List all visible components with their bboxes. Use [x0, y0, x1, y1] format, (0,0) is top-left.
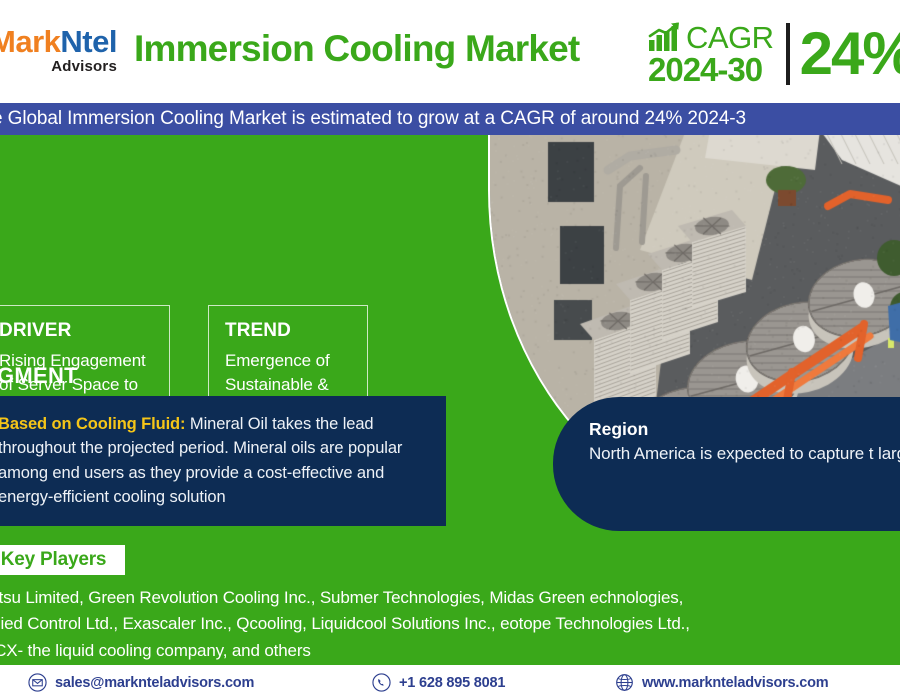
segment-card-label: Based on Cooling Fluid:	[0, 415, 185, 433]
driver-card-title: DRIVER	[0, 320, 153, 342]
cagr-label: CAGR	[686, 23, 774, 52]
logo-text-ntel: Ntel	[60, 24, 117, 59]
footer-website-text: www.marknteladvisors.com	[642, 675, 828, 691]
body-panel: DRIVER Rising Engagement of Server Space…	[0, 135, 900, 665]
company-logo[interactable]: MarkNtel Advisors	[0, 26, 121, 74]
globe-icon	[615, 673, 634, 692]
segment-card-text: Based on Cooling Fluid: Mineral Oil take…	[0, 412, 432, 510]
logo-text-mark: Mark	[0, 24, 60, 59]
cagr-top-row: CAGR	[648, 22, 774, 52]
logo-wordmark: MarkNtel	[0, 26, 121, 57]
header-bar: MarkNtel Advisors Immersion Cooling Mark…	[0, 0, 900, 105]
headline-banner-text: e Global Immersion Cooling Market is est…	[0, 108, 746, 130]
cagr-value: 24%	[800, 24, 900, 84]
headline-banner: e Global Immersion Cooling Market is est…	[0, 103, 900, 135]
footer-email-text: sales@marknteladvisors.com	[55, 675, 254, 691]
region-card: Region North America is expected to capt…	[553, 397, 900, 531]
bar-chart-arrow-up-icon	[648, 22, 682, 52]
footer-phone[interactable]: +1 628 895 8081	[372, 673, 505, 692]
phone-icon	[372, 673, 391, 692]
footer-website[interactable]: www.marknteladvisors.com	[615, 673, 828, 692]
segment-card: Based on Cooling Fluid: Mineral Oil take…	[0, 396, 446, 526]
cagr-label-group: CAGR 2024-30	[648, 22, 774, 86]
footer-bar: sales@marknteladvisors.com +1 628 895 80…	[0, 665, 900, 700]
footer-email[interactable]: sales@marknteladvisors.com	[28, 673, 254, 692]
page-title: Immersion Cooling Market	[134, 28, 579, 70]
envelope-icon	[28, 673, 47, 692]
key-players-list: ujitsu Limited, Green Revolution Cooling…	[0, 585, 702, 664]
key-players-label: Key Players	[1, 549, 107, 571]
trend-card-title: TREND	[225, 320, 351, 342]
region-card-text: North America is expected to capture t l…	[589, 442, 897, 467]
cagr-divider	[786, 23, 790, 85]
infographic-poster: MarkNtel Advisors Immersion Cooling Mark…	[0, 0, 900, 700]
cagr-years: 2024-30	[648, 53, 774, 86]
segment-heading: EGMENT	[0, 363, 78, 389]
region-card-title: Region	[589, 419, 897, 440]
key-players-badge: Key Players	[0, 545, 125, 575]
footer-phone-text: +1 628 895 8081	[399, 675, 505, 691]
logo-text-advisors: Advisors	[0, 59, 121, 74]
cagr-badge: CAGR 2024-30 24%	[648, 20, 900, 88]
